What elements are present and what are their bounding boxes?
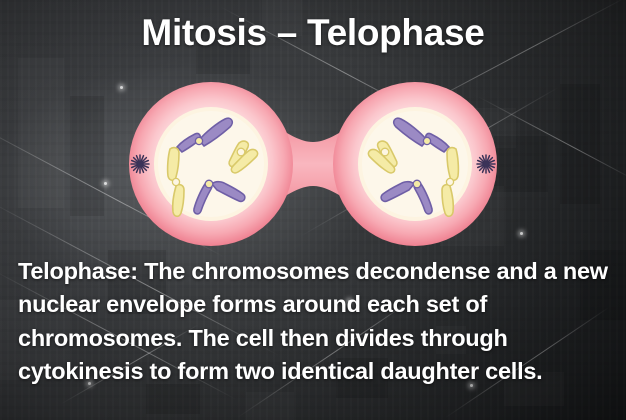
telophase-poster: Mitosis – Telophase bbox=[0, 0, 626, 420]
page-title: Mitosis – Telophase bbox=[0, 12, 626, 53]
telophase-diagram bbox=[113, 74, 513, 254]
left-daughter-cell bbox=[129, 82, 293, 246]
centrosome-aster-right bbox=[477, 155, 495, 173]
right-daughter-cell bbox=[333, 82, 497, 246]
phase-description: Telophase: The chromosomes decondense an… bbox=[18, 255, 614, 388]
centrosome-aster-left bbox=[131, 155, 149, 173]
